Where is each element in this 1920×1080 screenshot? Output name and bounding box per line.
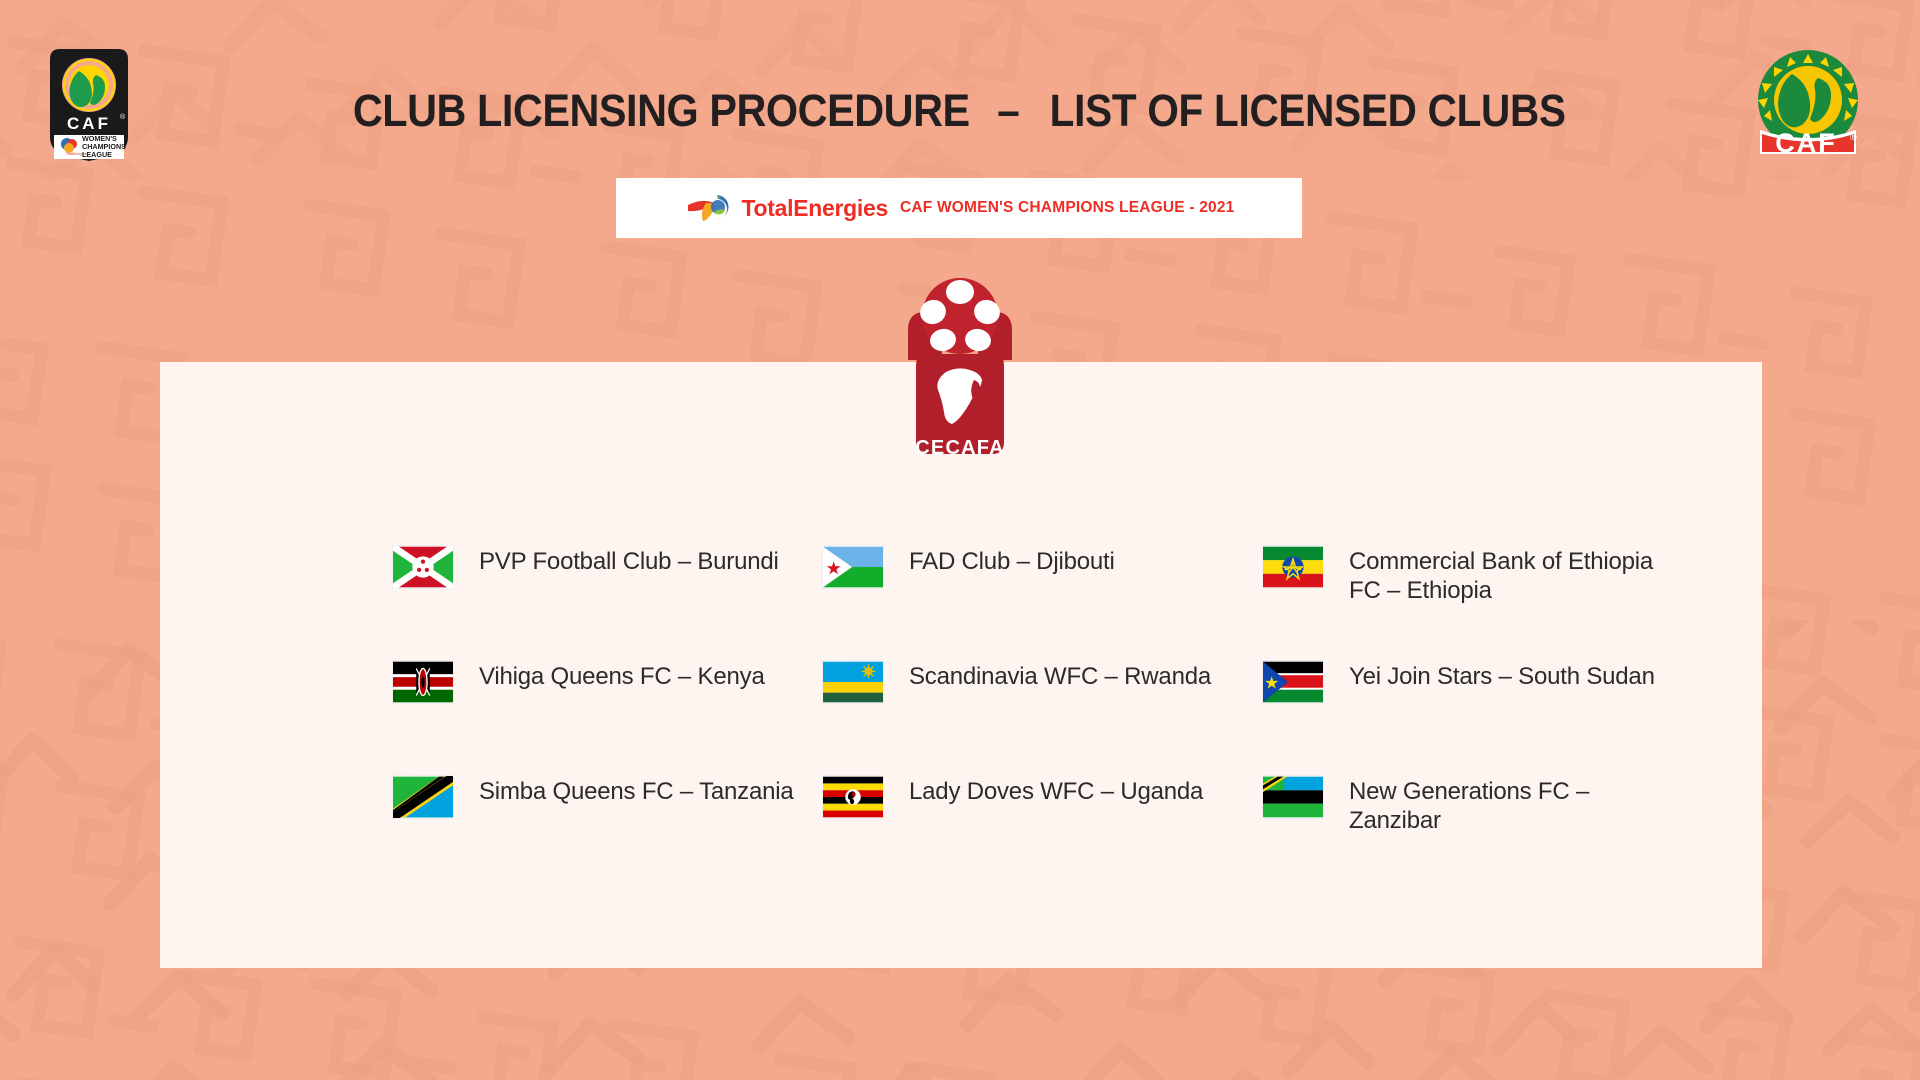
flag-kenya-icon bbox=[392, 660, 454, 704]
cecafa-label: CECAFA bbox=[915, 437, 1004, 459]
club-name: Scandinavia WFC – Rwanda bbox=[909, 660, 1211, 691]
page-title-light: LIST OF LICENSED CLUBS bbox=[1050, 88, 1566, 133]
cecafa-logo: CECAFA bbox=[888, 268, 1032, 468]
list-item: Lady Doves WFC – Uganda bbox=[822, 775, 1262, 819]
svg-text:®: ® bbox=[1850, 132, 1857, 142]
flag-djibouti-icon bbox=[822, 545, 884, 589]
list-item: Simba Queens FC – Tanzania bbox=[392, 775, 822, 819]
club-name: FAD Club – Djibouti bbox=[909, 545, 1115, 576]
banner-brand-name: TotalEnergies bbox=[742, 195, 889, 222]
licensed-clubs-list: PVP Football Club – Burundi FAD Club – D… bbox=[392, 545, 1682, 890]
competition-banner: TotalEnergies CAF WOMEN'S CHAMPIONS LEAG… bbox=[616, 178, 1302, 238]
list-item: Yei Join Stars – South Sudan bbox=[1262, 660, 1682, 704]
list-item: Scandinavia WFC – Rwanda bbox=[822, 660, 1262, 704]
list-item: Vihiga Queens FC – Kenya bbox=[392, 660, 822, 704]
page-title: CLUB LICENSING PROCEDURE – LIST OF LICEN… bbox=[0, 88, 1920, 133]
list-item: PVP Football Club – Burundi bbox=[392, 545, 822, 589]
club-name: Commercial Bank of Ethiopia FC – Ethiopi… bbox=[1349, 545, 1679, 605]
list-item: Commercial Bank of Ethiopia FC – Ethiopi… bbox=[1262, 545, 1682, 605]
flag-south-sudan-icon bbox=[1262, 660, 1324, 704]
flag-rwanda-icon bbox=[822, 660, 884, 704]
club-name: New Generations FC – Zanzibar bbox=[1349, 775, 1679, 835]
club-name: PVP Football Club – Burundi bbox=[479, 545, 779, 576]
page-title-strong: CLUB LICENSING PROCEDURE bbox=[352, 88, 969, 133]
club-name: Vihiga Queens FC – Kenya bbox=[479, 660, 765, 691]
club-name: Simba Queens FC – Tanzania bbox=[479, 775, 794, 806]
header: CAF ® TotalEnergies WOMEN'S CHAMPIONS LE… bbox=[0, 0, 1920, 165]
caf-logo: CAF ® bbox=[1744, 42, 1872, 160]
page-title-separator: – bbox=[997, 88, 1019, 133]
flag-uganda-icon bbox=[822, 775, 884, 819]
list-item: FAD Club – Djibouti bbox=[822, 545, 1262, 589]
flag-ethiopia-icon bbox=[1262, 545, 1324, 589]
svg-text:CAF: CAF bbox=[1775, 128, 1837, 158]
club-name: Yei Join Stars – South Sudan bbox=[1349, 660, 1655, 691]
list-item: New Generations FC – Zanzibar bbox=[1262, 775, 1682, 835]
svg-text:LEAGUE: LEAGUE bbox=[82, 150, 112, 159]
flag-zanzibar-icon bbox=[1262, 775, 1324, 819]
flag-tanzania-icon bbox=[392, 775, 454, 819]
club-name: Lady Doves WFC – Uganda bbox=[909, 775, 1203, 806]
banner-competition-name: CAF WOMEN'S CHAMPIONS LEAGUE - 2021 bbox=[900, 199, 1235, 217]
totalenergies-icon bbox=[684, 191, 738, 225]
flag-burundi-icon bbox=[392, 545, 454, 589]
